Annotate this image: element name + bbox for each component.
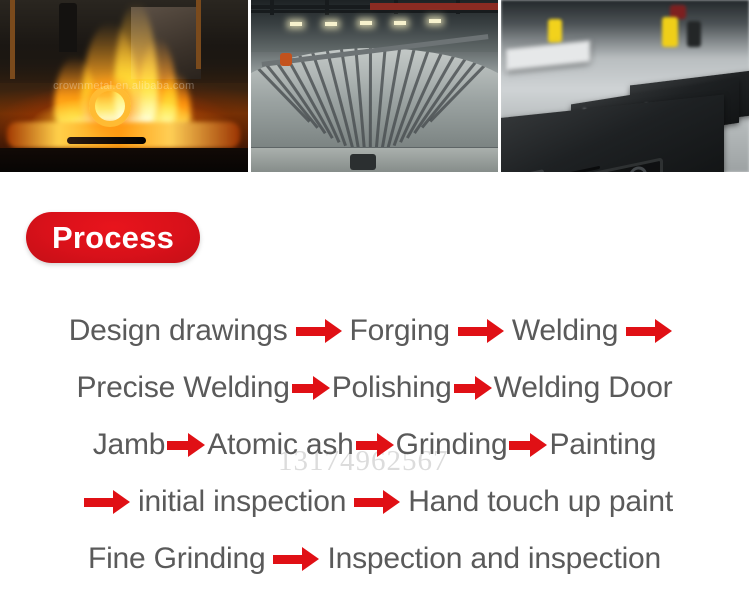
- arrow-head: [188, 433, 205, 457]
- forge-support-post: [10, 0, 15, 79]
- process-step: Jamb: [93, 428, 166, 462]
- roof-column: [270, 0, 274, 15]
- arrow-head: [302, 547, 319, 571]
- worker-figure: [548, 19, 562, 43]
- floor-equipment: [350, 154, 376, 170]
- arrow-head: [377, 433, 394, 457]
- arrow-head: [113, 490, 130, 514]
- arrow-shaft: [273, 555, 302, 564]
- process-step: Painting: [549, 428, 656, 462]
- forging-furnace-photo: crownmetal.en.alibaba.com: [0, 0, 248, 172]
- arrow-shaft: [354, 498, 383, 507]
- process-badge: Process: [26, 212, 200, 263]
- arrow-shaft: [626, 327, 655, 336]
- right-arrow-icon: [509, 432, 547, 458]
- roof-beam: [251, 10, 499, 13]
- right-arrow-icon: [626, 318, 672, 344]
- right-arrow-icon: [354, 489, 400, 515]
- process-step: Fine Grinding: [88, 542, 266, 576]
- photo-strip: crownmetal.en.alibaba.com: [0, 0, 749, 172]
- ceiling-light: [325, 22, 337, 26]
- right-arrow-icon: [273, 546, 319, 572]
- process-step: initial inspection: [138, 485, 346, 519]
- process-flow-line: JambAtomic ashGrindingPainting: [0, 416, 749, 473]
- right-arrow-icon: [458, 318, 504, 344]
- forge-support-post: [196, 0, 201, 69]
- process-step: Design drawings: [69, 314, 288, 348]
- ceiling-light: [360, 21, 372, 25]
- process-step: Welding: [512, 314, 618, 348]
- process-step: Welding Door: [494, 371, 673, 405]
- process-step: Grinding: [396, 428, 508, 462]
- arrow-head: [530, 433, 547, 457]
- arrow-head: [325, 319, 342, 343]
- worker-figure: [687, 21, 701, 47]
- process-badge-label: Process: [52, 220, 174, 256]
- process-step: Inspection and inspection: [327, 542, 661, 576]
- arrow-shaft: [84, 498, 113, 507]
- right-arrow-icon: [84, 489, 130, 515]
- arrow-head: [487, 319, 504, 343]
- process-flow-line: initial inspectionHand touch up paint: [0, 473, 749, 530]
- red-beam: [370, 3, 499, 10]
- worker-figure: [662, 17, 678, 47]
- process-step: Precise Welding: [77, 371, 290, 405]
- arrow-head: [383, 490, 400, 514]
- process-flow-line: Precise WeldingPolishingWelding Door: [0, 359, 749, 416]
- worker-figure: [280, 53, 292, 66]
- arrow-head: [313, 376, 330, 400]
- process-step: Hand touch up paint: [408, 485, 673, 519]
- molten-ember-bed: [7, 122, 240, 148]
- ceiling-light: [429, 19, 441, 23]
- process-step: Polishing: [332, 371, 452, 405]
- dome-rib: [368, 48, 371, 148]
- iron-bar: [67, 137, 146, 144]
- arrow-shaft: [458, 327, 487, 336]
- arrow-head: [655, 319, 672, 343]
- forge-floor: [0, 148, 248, 172]
- right-arrow-icon: [296, 318, 342, 344]
- process-flow-line: Fine GrindingInspection and inspection: [0, 530, 749, 587]
- process-section: Process 13174962567 Design drawingsForgi…: [0, 172, 749, 597]
- process-step: Atomic ash: [207, 428, 353, 462]
- forge-worker-silhouette: [59, 3, 76, 51]
- arrow-shaft: [296, 327, 325, 336]
- ceiling-light: [394, 21, 406, 25]
- right-arrow-icon: [454, 375, 492, 401]
- iron-dome-frame-photo: [251, 0, 499, 172]
- ceiling-light: [290, 22, 302, 26]
- black-door-panels-photo: [501, 0, 749, 172]
- right-arrow-icon: [167, 432, 205, 458]
- right-arrow-icon: [292, 375, 330, 401]
- right-arrow-icon: [356, 432, 394, 458]
- roof-column: [325, 0, 329, 15]
- process-step: Forging: [350, 314, 450, 348]
- arrow-head: [475, 376, 492, 400]
- process-flow-line: Design drawingsForgingWelding: [0, 302, 749, 359]
- photo-watermark: crownmetal.en.alibaba.com: [53, 80, 194, 92]
- process-flow: Design drawingsForgingWeldingPrecise Wel…: [0, 302, 749, 587]
